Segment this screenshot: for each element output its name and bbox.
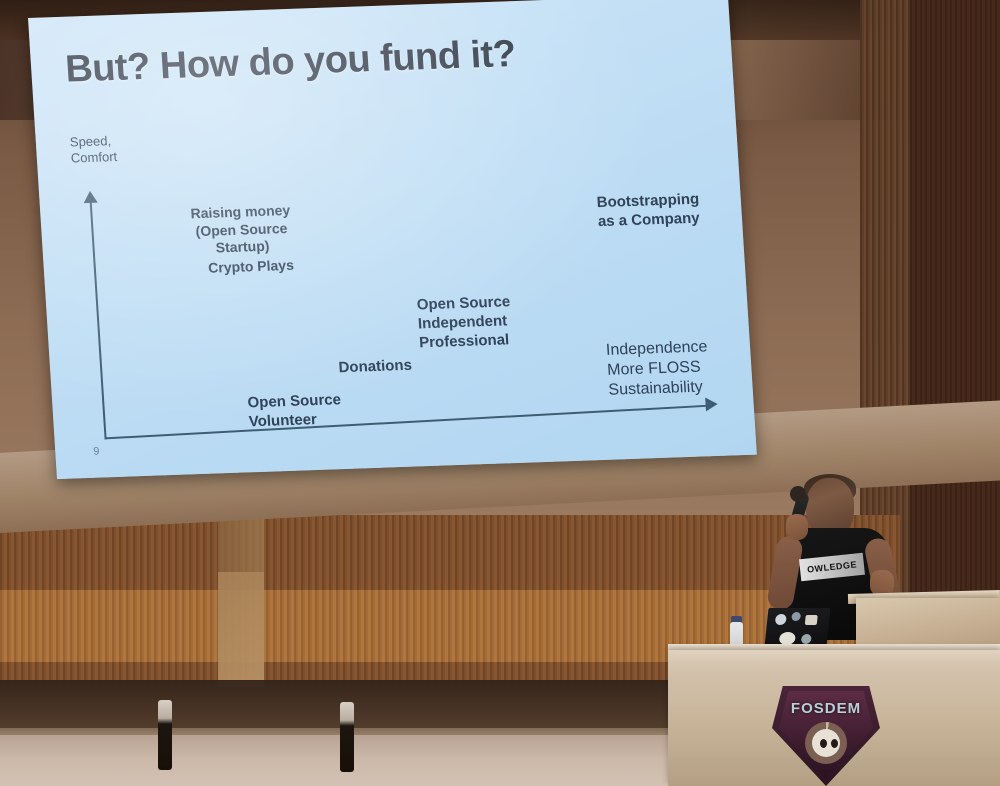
slide-surface: But? How do you fund it? Speed, Comfort … (28, 0, 757, 479)
conference-room-photo: But? How do you fund it? Speed, Comfort … (0, 0, 1000, 786)
fosdem-wordmark: FOSDEM (772, 700, 880, 717)
x-axis-arrowhead (705, 397, 718, 411)
projection-screen: But? How do you fund it? Speed, Comfort … (28, 0, 757, 487)
label-donations: Donations (338, 357, 413, 378)
laptop-sticker (791, 612, 801, 621)
floor-light-right (340, 702, 354, 772)
fosdem-banner: FOSDEM (772, 686, 880, 786)
y-axis-line (89, 198, 106, 440)
x-axis-label: Independence More FLOSS Sustainability (605, 337, 710, 401)
wall-door-panel (218, 572, 264, 687)
fosdem-mascot-eye (820, 739, 827, 748)
laptop-sticker (775, 614, 787, 625)
y-axis-label: Speed, Comfort (69, 133, 117, 167)
floor-light-left (158, 700, 172, 770)
label-open-source-independent-professional: Open Source Independent Professional (416, 293, 513, 353)
fosdem-mascot-eye (831, 739, 838, 748)
label-open-source-volunteer: Open Source Volunteer (247, 391, 343, 432)
laptop-sticker (801, 634, 812, 644)
laptop-sticker (805, 615, 818, 625)
slide-title: But? How do you fund it? (64, 33, 517, 92)
presenter-left-hand (786, 514, 808, 540)
slide-page-number: 9 (93, 446, 100, 458)
label-crypto-plays: Crypto Plays (196, 256, 307, 277)
label-bootstrapping: Bootstrapping as a Company (596, 191, 701, 232)
label-raising-money: Raising money (Open Source Startup) (190, 202, 293, 258)
x-axis-line (104, 404, 713, 439)
